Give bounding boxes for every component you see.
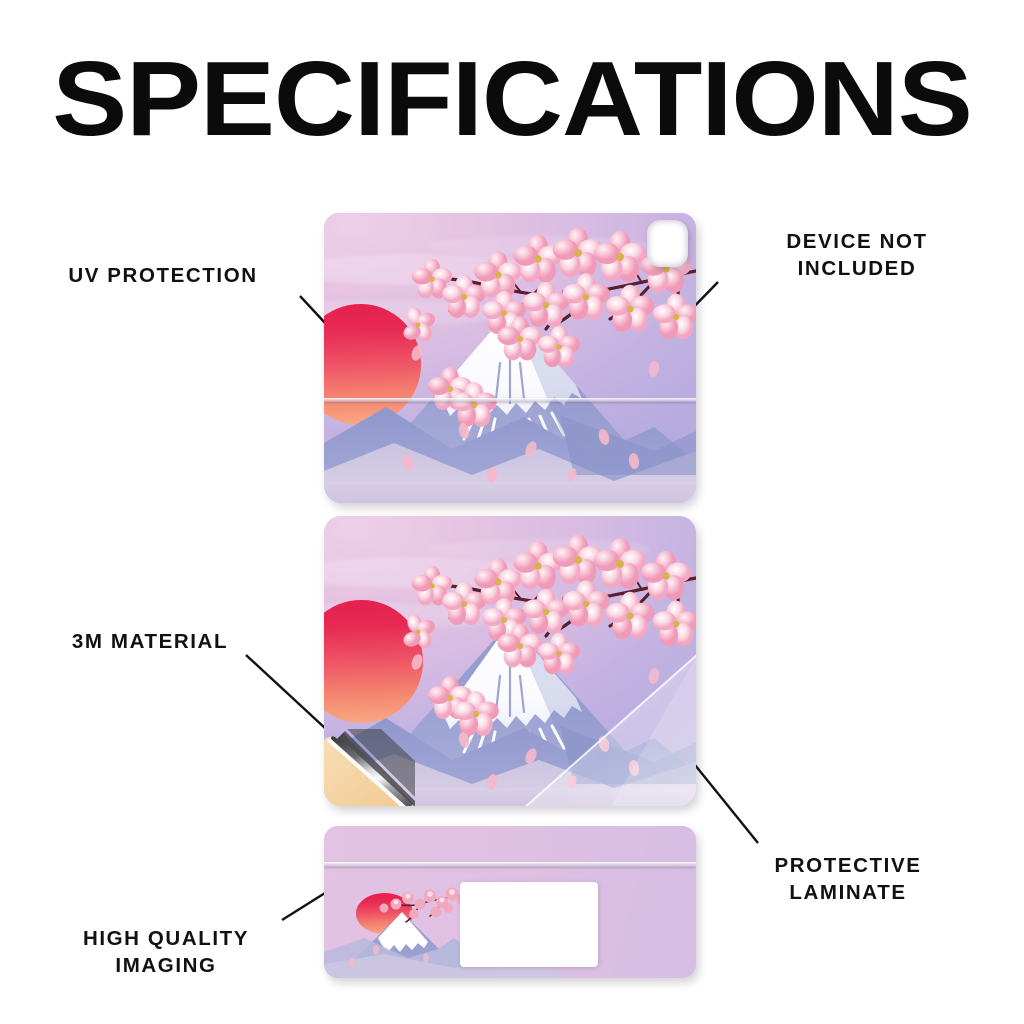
panel-seam-line (324, 398, 696, 402)
callout-label-protective-laminate: PROTECTIVE LAMINATE (712, 852, 984, 906)
callout-label-device-not-included: DEVICE NOT INCLUDED (722, 228, 992, 282)
artwork-mount-fuji (324, 213, 696, 503)
panel-seam-line (324, 862, 696, 867)
skin-panel-with-peel[interactable] (324, 516, 696, 806)
callout-label-3m-material: 3M MATERIAL (20, 628, 280, 655)
callout-label-uv-protection: UV PROTECTION (18, 262, 308, 289)
cherry-blossom-branch (324, 213, 696, 503)
callout-label-high-quality-imaging: HIGH QUALITY IMAGING (30, 925, 302, 979)
specifications-page: SPECIFICATIONS UV PROTECTION DEVICE NOT … (0, 0, 1024, 1024)
protective-laminate-overlay (518, 648, 696, 806)
skin-panel-tablet-back[interactable] (324, 213, 696, 503)
peel-corner-3m-material (324, 715, 415, 806)
skin-panel-keyboard-cover[interactable] (324, 826, 696, 978)
trackpad-cutout (460, 882, 598, 967)
page-title: SPECIFICATIONS (0, 46, 1024, 152)
camera-cutout (647, 220, 688, 267)
